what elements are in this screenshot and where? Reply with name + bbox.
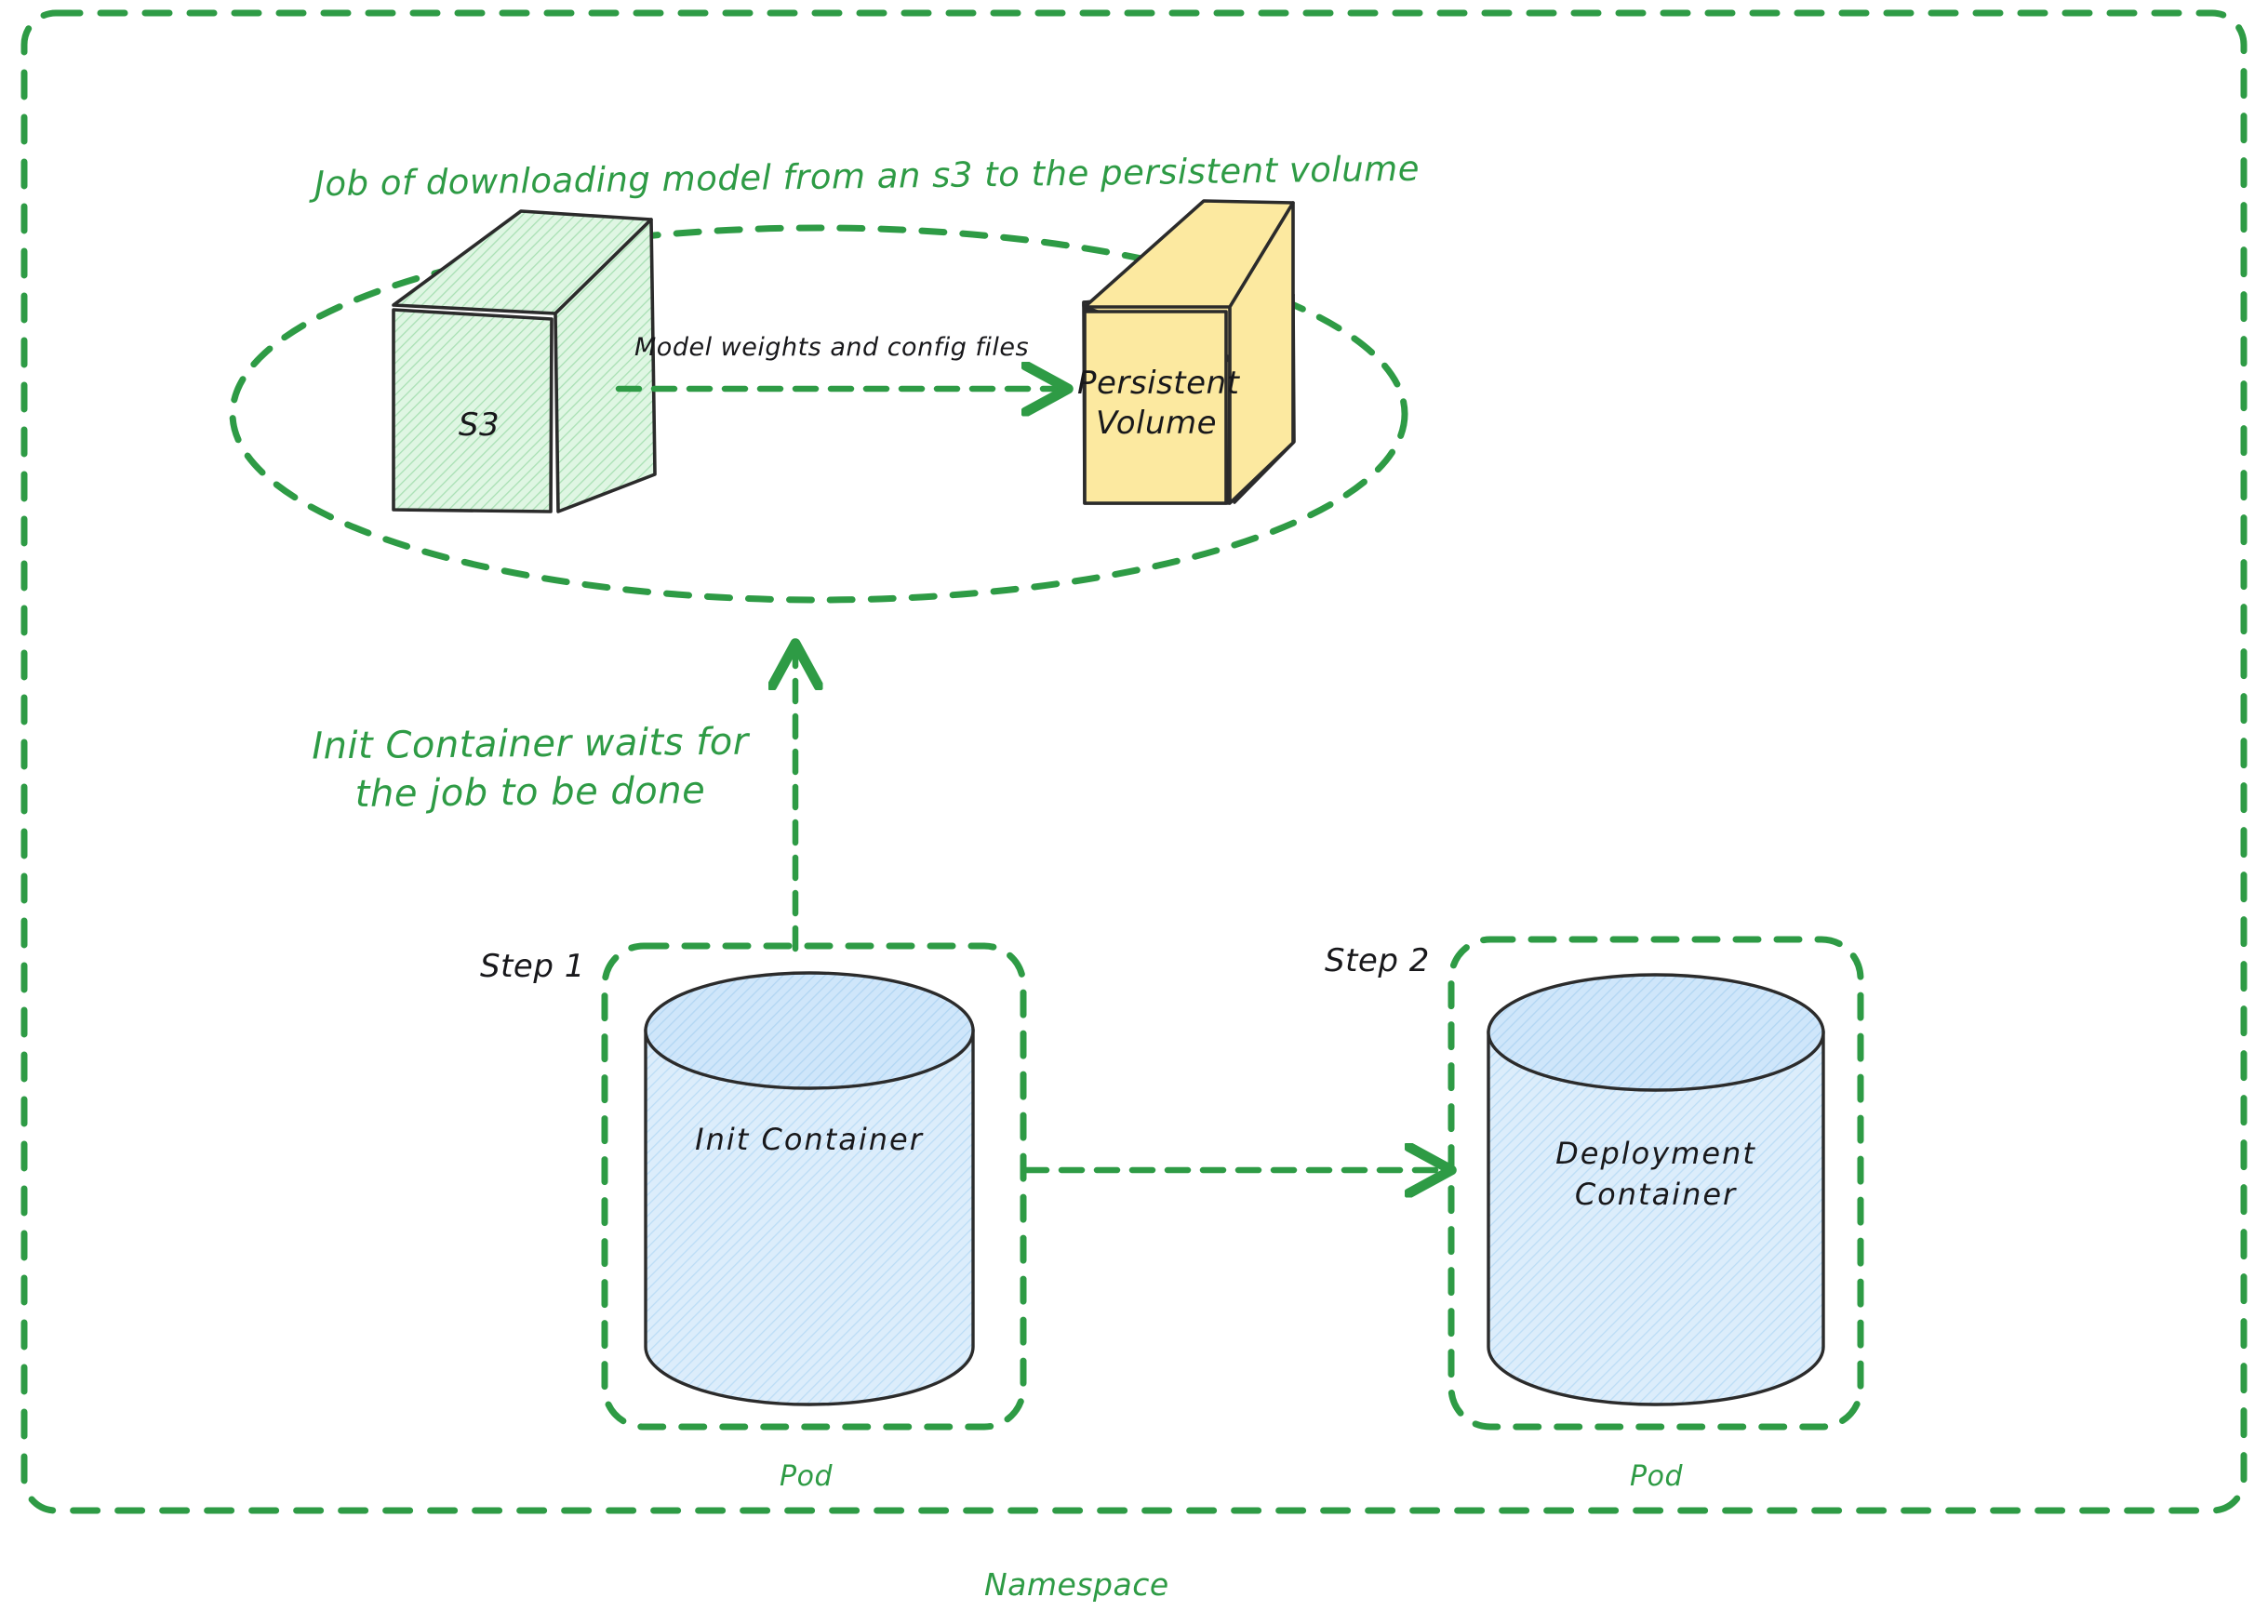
init-wait-note-line1: Init Container waits for xyxy=(279,718,782,771)
init-container-cylinder xyxy=(646,973,973,1404)
persistent-volume-cube xyxy=(1084,201,1294,503)
deployment-container-label-line1: Deployment xyxy=(1498,1135,1814,1174)
step-2-label: Step 2 xyxy=(1325,942,1430,979)
persistent-volume-label-line1: Persistent xyxy=(1077,365,1235,403)
s3-cube xyxy=(394,211,655,512)
init-container-label: Init Container xyxy=(651,1121,967,1160)
step-1-label: Step 1 xyxy=(480,948,585,985)
pod-1-label: Pod xyxy=(780,1460,833,1493)
deployment-container-label-line2: Container xyxy=(1498,1176,1814,1215)
pod-2-label: Pod xyxy=(1630,1460,1683,1493)
s3-cube-label: S3 xyxy=(423,406,535,445)
init-wait-note-line2: the job to be done xyxy=(279,766,782,819)
model-weights-edge-label: Model weights and config files xyxy=(634,333,1029,362)
namespace-label: Namespace xyxy=(984,1566,1169,1603)
persistent-volume-label-line2: Volume xyxy=(1077,405,1235,443)
diagram-canvas: Job of downloading model from an s3 to t… xyxy=(0,0,2268,1624)
